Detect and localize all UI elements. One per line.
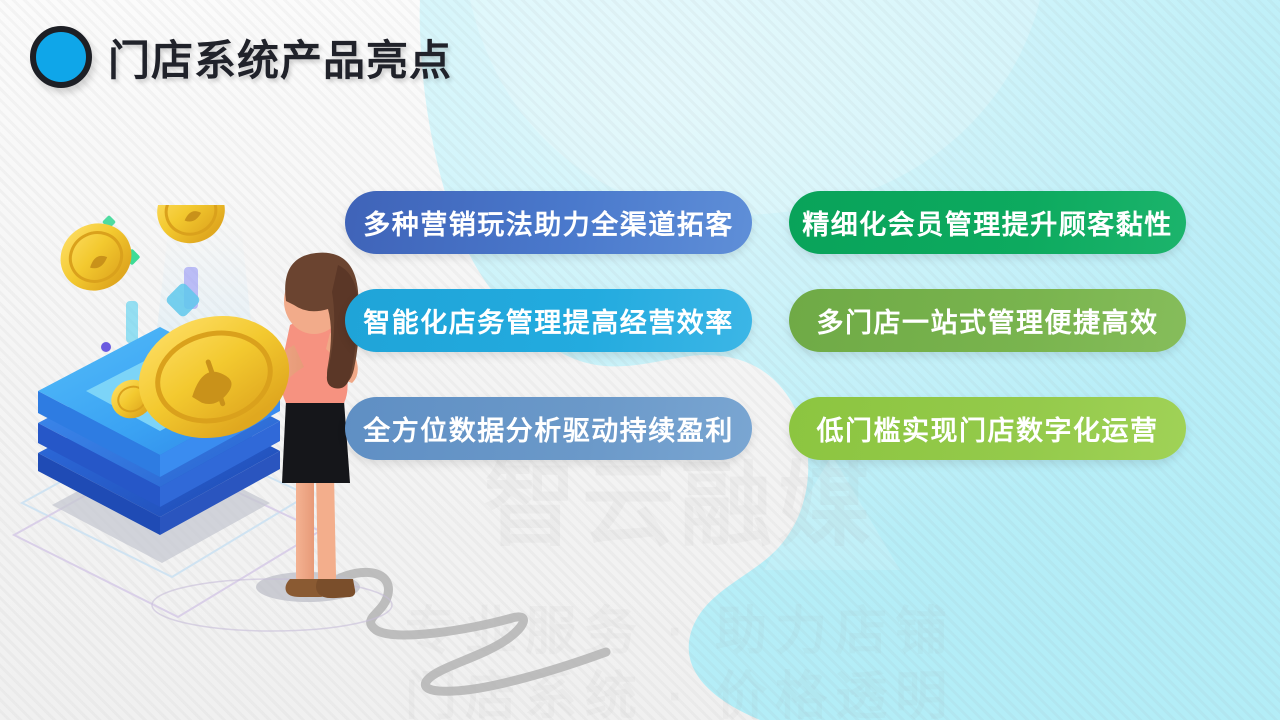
- brand-watermark: 智云融媒: [330, 455, 1030, 558]
- page-title: 门店系统产品亮点: [108, 27, 452, 88]
- brand-watermark-subtitle: 专业服务 · 助力店铺 门店系统 · 价格透明: [330, 600, 1030, 720]
- circle-icon: [30, 26, 92, 88]
- feature-pill-marketing[interactable]: 多种营销玩法助力全渠道拓客: [345, 191, 752, 254]
- slide-canvas: 智云融媒 专业服务 · 助力店铺 门店系统 · 价格透明 门店系统产品亮点: [0, 0, 1280, 720]
- feature-pill-data-analysis[interactable]: 全方位数据分析驱动持续盈利: [345, 397, 752, 460]
- feature-pill-store-management[interactable]: 智能化店务管理提高经营效率: [345, 289, 752, 352]
- feature-pill-member-management[interactable]: 精细化会员管理提升顾客黏性: [789, 191, 1186, 254]
- slide-header: 门店系统产品亮点: [30, 26, 452, 88]
- feature-pill-low-threshold-digital[interactable]: 低门槛实现门店数字化运营: [789, 397, 1186, 460]
- feature-pill-multi-store[interactable]: 多门店一站式管理便捷高效: [789, 289, 1186, 352]
